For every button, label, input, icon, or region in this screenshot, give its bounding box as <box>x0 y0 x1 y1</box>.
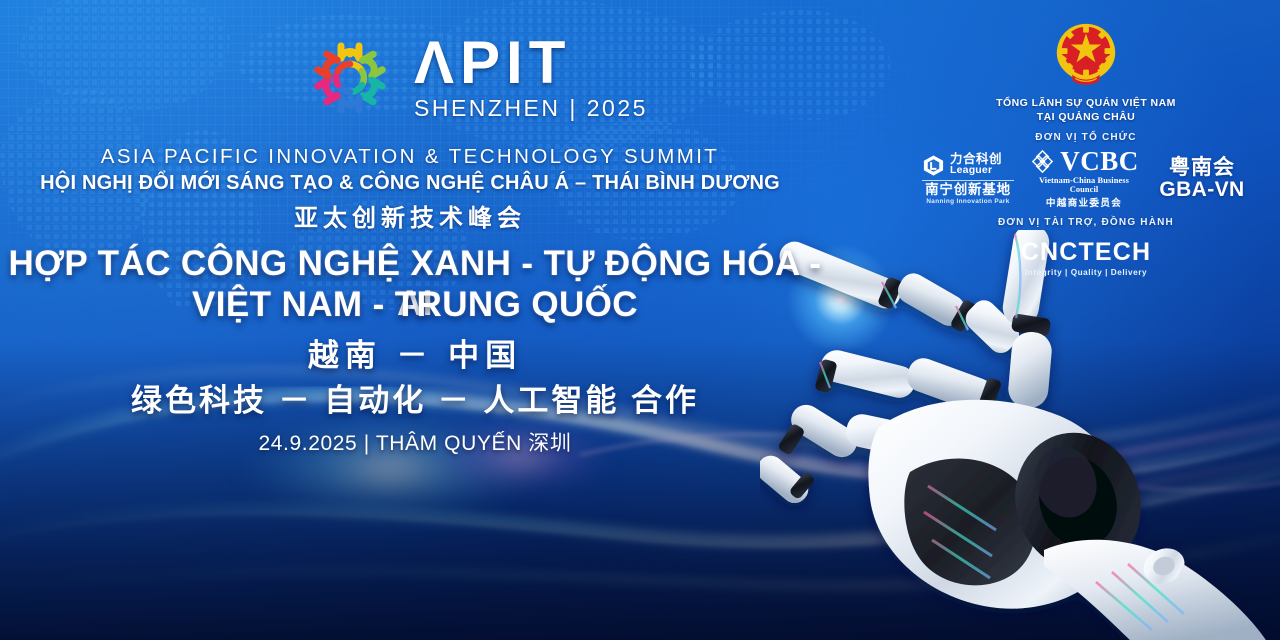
sponsor-cnctech[interactable]: CNCTECH Integrity | Quality | Delivery <box>900 240 1272 277</box>
gba-cn-name: 粤南会 <box>1154 157 1250 179</box>
leaguer-hexagon-icon <box>922 154 945 177</box>
vietnam-national-emblem <box>1047 18 1125 92</box>
apit-acronym: ΛPIT <box>414 34 571 91</box>
headline-line-2: VIỆT NAM - TRUNG QUỐC <box>0 285 830 325</box>
organizer-leaguer[interactable]: 力合科创 Leaguer 南宁创新基地 Nanning Innovation P… <box>922 153 1014 205</box>
consulate-caption: TỔNG LÃNH SỰ QUÁN VIỆT NAM TẠI QUẢNG CHÂ… <box>996 96 1176 124</box>
summit-title-english: ASIA PACIFIC INNOVATION & TECHNOLOGY SUM… <box>0 145 820 169</box>
robotic-hand-illustration <box>760 230 1280 640</box>
vcbc-en-name: Vietnam-China Business Council <box>1028 176 1140 194</box>
cnctech-tagline: Integrity | Quality | Delivery <box>1025 268 1147 277</box>
headline-zh-line-2: 绿色科技 － 自动化 － 人工智能 合作 <box>0 375 830 420</box>
summit-title-vietnamese: HỘI NGHỊ ĐỔI MỚI SÁNG TẠO & CÔNG NGHỆ CH… <box>0 172 820 195</box>
partners-column: TỔNG LÃNH SỰ QUÁN VIỆT NAM TẠI QUẢNG CHÂ… <box>900 18 1272 277</box>
conference-banner: ΛPIT SHENZHEN | 2025 ASIA PACIFIC INNOVA… <box>0 0 1280 640</box>
sponsors-label: ĐƠN VỊ TÀI TRỢ, ĐỒNG HÀNH <box>900 217 1272 228</box>
vcbc-knot-icon <box>1029 148 1056 175</box>
apit-radial-people-logo <box>300 28 400 128</box>
leaguer-en-sub: Nanning Innovation Park <box>922 198 1014 205</box>
gba-en-name: GBA-VN <box>1154 179 1250 201</box>
consulate-block: TỔNG LÃNH SỰ QUÁN VIỆT NAM TẠI QUẢNG CHÂ… <box>900 18 1272 124</box>
organizer-vcbc[interactable]: VCBC Vietnam-China Business Council 中越商业… <box>1028 148 1140 209</box>
summit-title-chinese: 亚太创新技术峰会 <box>0 198 820 233</box>
organizer-gba-vn[interactable]: 粤南会 GBA-VN <box>1154 157 1250 202</box>
consulate-line-2: TẠI QUẢNG CHÂU <box>996 110 1176 124</box>
headline-zh-line-1: 越南 － 中国 <box>0 330 830 375</box>
organizers-row: 力合科创 Leaguer 南宁创新基地 Nanning Innovation P… <box>900 148 1272 209</box>
apit-location-year: SHENZHEN | 2025 <box>414 95 648 122</box>
cnctech-name: CNCTECH <box>1021 240 1152 265</box>
leaguer-en-name: Leaguer <box>950 165 1002 177</box>
leaguer-cn-sub: 南宁创新基地 <box>922 183 1014 197</box>
leaguer-divider <box>922 180 1014 181</box>
apit-acronym-rest: PIT <box>460 29 571 96</box>
apit-logo-row: ΛPIT SHENZHEN | 2025 <box>300 28 648 128</box>
apit-wordmark: ΛPIT SHENZHEN | 2025 <box>414 34 648 122</box>
vcbc-acronym: VCBC <box>1060 148 1139 175</box>
event-date-location: 24.9.2025 | THÂM QUYẾN 深圳 <box>0 427 830 457</box>
consulate-line-1: TỔNG LÃNH SỰ QUÁN VIỆT NAM <box>996 96 1176 110</box>
vcbc-cn-name: 中越商业委员会 <box>1028 195 1140 209</box>
magenta-light-ribbon <box>880 400 1280 590</box>
organizers-label: ĐƠN VỊ TỔ CHỨC <box>900 132 1272 143</box>
